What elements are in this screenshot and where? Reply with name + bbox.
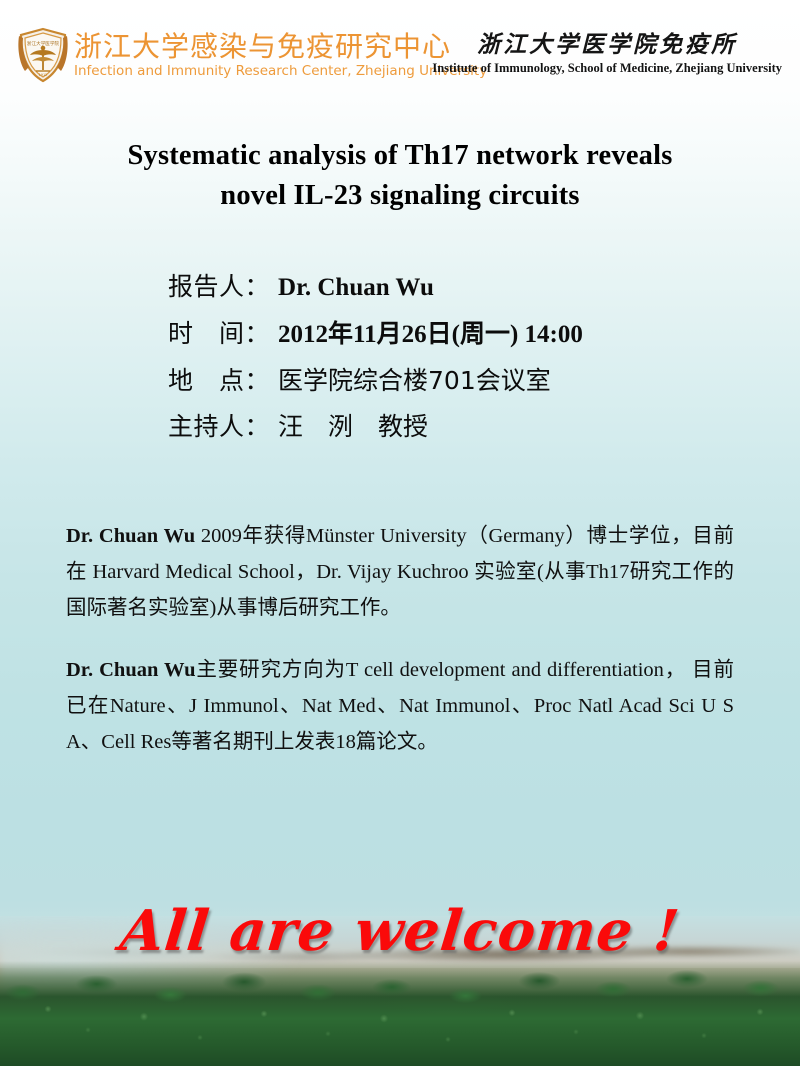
research-center-branding: 浙江大学医学院 1912 浙江大学感染与免疫研究中心 Infection and… [16,26,487,84]
detail-label-host: 主持人： [168,410,270,444]
detail-row-speaker: 报告人： Dr. Chuan Wu [168,270,740,305]
welcome-message: All are welcome ! [0,898,800,964]
detail-value-speaker: Dr. Chuan Wu [278,271,434,305]
detail-value-location: 医学院综合楼701会议室 [278,364,551,398]
research-center-name-cn: 浙江大学感染与免疫研究中心 [74,31,487,63]
speaker-biography: Dr. Chuan Wu 2009年获得Münster University（G… [66,518,734,786]
detail-label-speaker: 报告人： [168,270,270,304]
institute-name-cn: 浙江大学医学院免疫所 [432,30,782,60]
institute-name-en: Institute of Immunology, School of Medic… [432,60,782,76]
seminar-title-line-1: Systematic analysis of Th17 network reve… [60,136,740,176]
detail-label-time: 时 间： [168,317,270,351]
bio-speaker-name-1: Dr. Chuan Wu [66,525,195,547]
detail-row-time: 时 间： 2012年11月26日(周一) 14:00 [168,317,740,352]
institute-branding: 浙江大学医学院免疫所 Institute of Immunology, Scho… [432,30,782,76]
seminar-title: Systematic analysis of Th17 network reve… [60,136,740,216]
seminar-poster: 浙江大学医学院 1912 浙江大学感染与免疫研究中心 Infection and… [0,0,800,1066]
bio-paragraph-1: Dr. Chuan Wu 2009年获得Münster University（G… [66,518,734,626]
university-shield-icon: 浙江大学医学院 1912 [16,26,70,84]
poster-header: 浙江大学医学院 1912 浙江大学感染与免疫研究中心 Infection and… [0,26,800,96]
detail-label-location: 地 点： [168,364,270,398]
svg-text:1912: 1912 [39,73,48,77]
research-center-text: 浙江大学感染与免疫研究中心 Infection and Immunity Res… [74,31,487,80]
foliage-leaf-texture [0,971,800,1066]
bio-paragraph-2: Dr. Chuan Wu主要研究方向为T cell development an… [66,652,734,760]
research-center-name-en: Infection and Immunity Research Center, … [74,63,487,80]
detail-value-host: 汪 洌 教授 [278,410,428,444]
detail-value-time: 2012年11月26日(周一) 14:00 [278,318,583,352]
seminar-details: 报告人： Dr. Chuan Wu 时 间： 2012年11月26日(周一) 1… [168,270,740,456]
detail-row-location: 地 点： 医学院综合楼701会议室 [168,364,740,398]
seminar-title-line-2: novel IL-23 signaling circuits [60,176,740,216]
bio-speaker-name-2: Dr. Chuan Wu [66,659,196,681]
detail-row-host: 主持人： 汪 洌 教授 [168,410,740,444]
